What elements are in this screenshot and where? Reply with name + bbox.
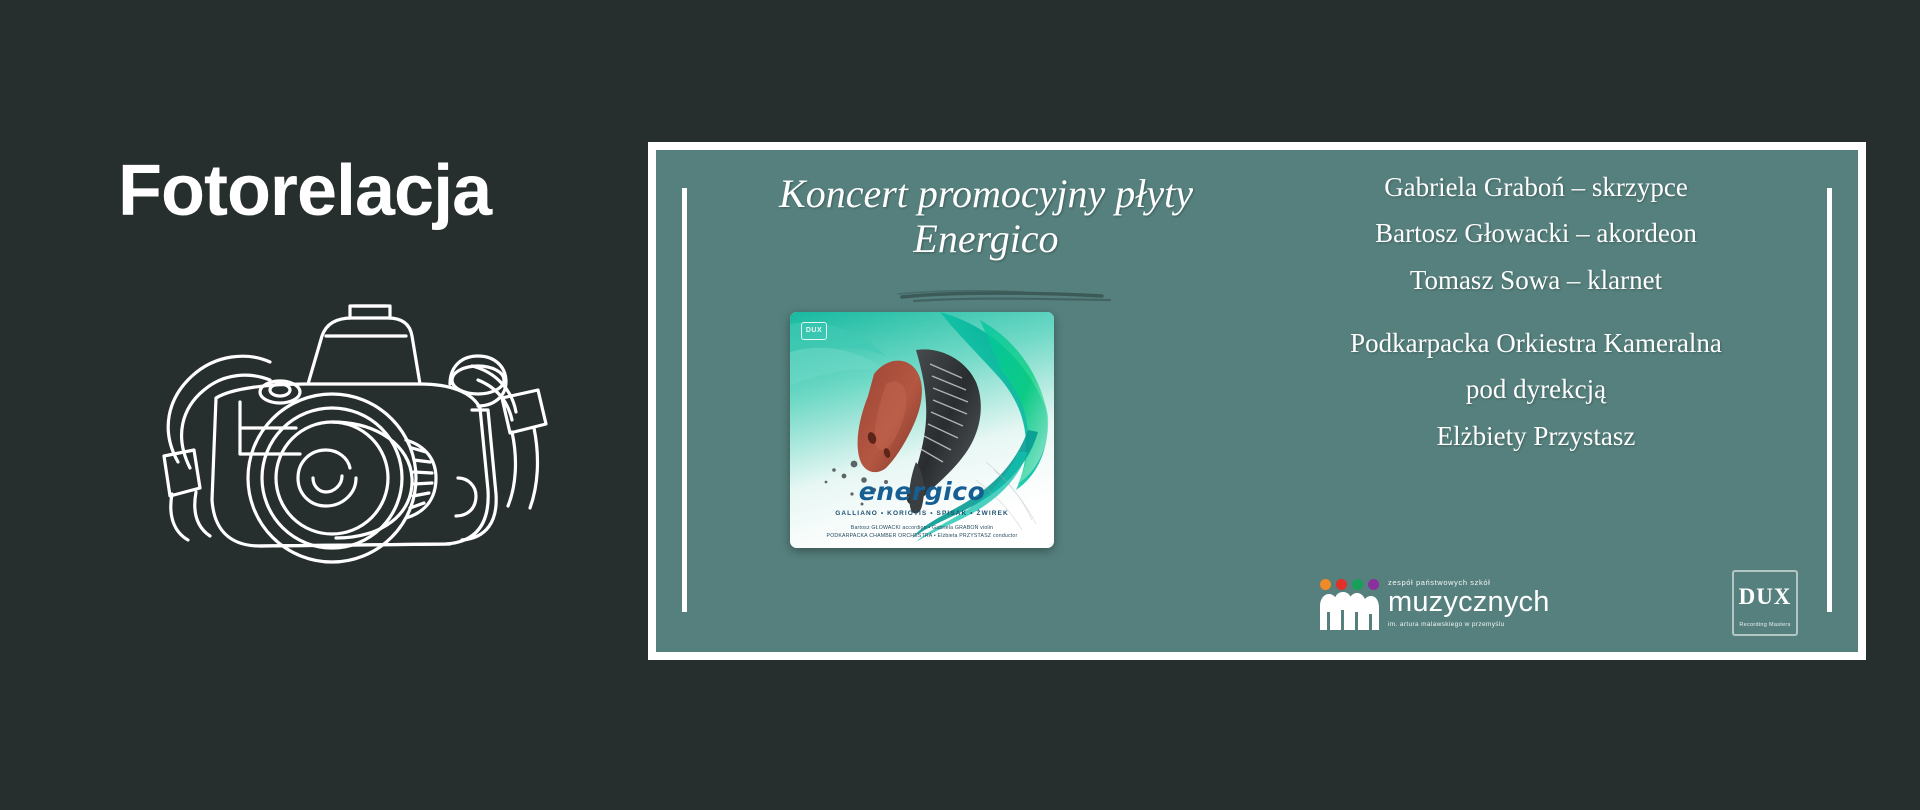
dux-logo-subtitle: Recording Masters bbox=[1732, 622, 1798, 628]
logo-dots bbox=[1320, 579, 1379, 590]
school-logo-bottom-text: im. artura malawskiego w przemyślu bbox=[1388, 621, 1505, 628]
concert-banner: Koncert promocyjny płyty Energico bbox=[648, 142, 1866, 660]
banner-headline: Koncert promocyjny płyty Energico bbox=[716, 172, 1256, 262]
ensemble-name: Podkarpacka Orkiestra Kameralna bbox=[1256, 320, 1816, 366]
performer-2: Bartosz Głowacki – akordeon bbox=[1256, 210, 1816, 256]
dux-logo-name: DUX bbox=[1732, 584, 1798, 610]
performer-3: Tomasz Sowa – klarnet bbox=[1256, 257, 1816, 303]
conductor-prefix: pod dyrekcją bbox=[1256, 366, 1816, 412]
performers-list: Gabriela Graboń – skrzypce Bartosz Głowa… bbox=[1256, 164, 1816, 303]
conductor-name: Elżbiety Przystasz bbox=[1256, 413, 1816, 459]
album-subtitle: GALLIANO • KORIOTIS • SPISAK • ŻWIREK bbox=[790, 510, 1054, 517]
album-label-badge: DUX bbox=[801, 322, 827, 340]
album-credit-line-1: Bartosz GŁOWACKI accordion • Gabriela GR… bbox=[790, 524, 1054, 532]
decorative-rule-left bbox=[682, 188, 687, 612]
album-cover: DUX energico GALLIANO • KORIOTIS • SPISA… bbox=[790, 312, 1054, 548]
brush-stroke-decoration bbox=[896, 288, 1126, 306]
headline-line-1: Koncert promocyjny płyty bbox=[779, 171, 1193, 216]
page-title: Fotorelacja bbox=[118, 150, 491, 232]
music-school-logo: zespół państwowych szkół muzycznych im. … bbox=[1318, 576, 1548, 632]
sponsor-logo-row: zespół państwowych szkół muzycznych im. … bbox=[1256, 568, 1816, 638]
album-credit-line-2: PODKARPACKA CHAMBER ORCHESTRA • Elżbieta… bbox=[790, 532, 1054, 540]
organ-pipes-icon bbox=[1318, 592, 1380, 630]
school-logo-main-text: muzycznych bbox=[1388, 588, 1550, 617]
dslr-camera-icon bbox=[120, 280, 560, 570]
headline-line-2: Energico bbox=[716, 217, 1256, 262]
album-wordmark: energico bbox=[790, 477, 1054, 506]
album-credits: Bartosz GŁOWACKI accordion • Gabriela GR… bbox=[790, 524, 1054, 540]
performer-1: Gabriela Graboń – skrzypce bbox=[1256, 164, 1816, 210]
poster-page: Fotorelacja bbox=[0, 0, 1920, 810]
left-column: Fotorelacja bbox=[0, 0, 640, 810]
decorative-rule-right bbox=[1827, 188, 1832, 612]
ensemble-credits: Podkarpacka Orkiestra Kameralna pod dyre… bbox=[1256, 320, 1816, 459]
banner-inner: Koncert promocyjny płyty Energico bbox=[656, 150, 1858, 652]
dux-label-logo: DUX Recording Masters bbox=[1732, 570, 1798, 636]
